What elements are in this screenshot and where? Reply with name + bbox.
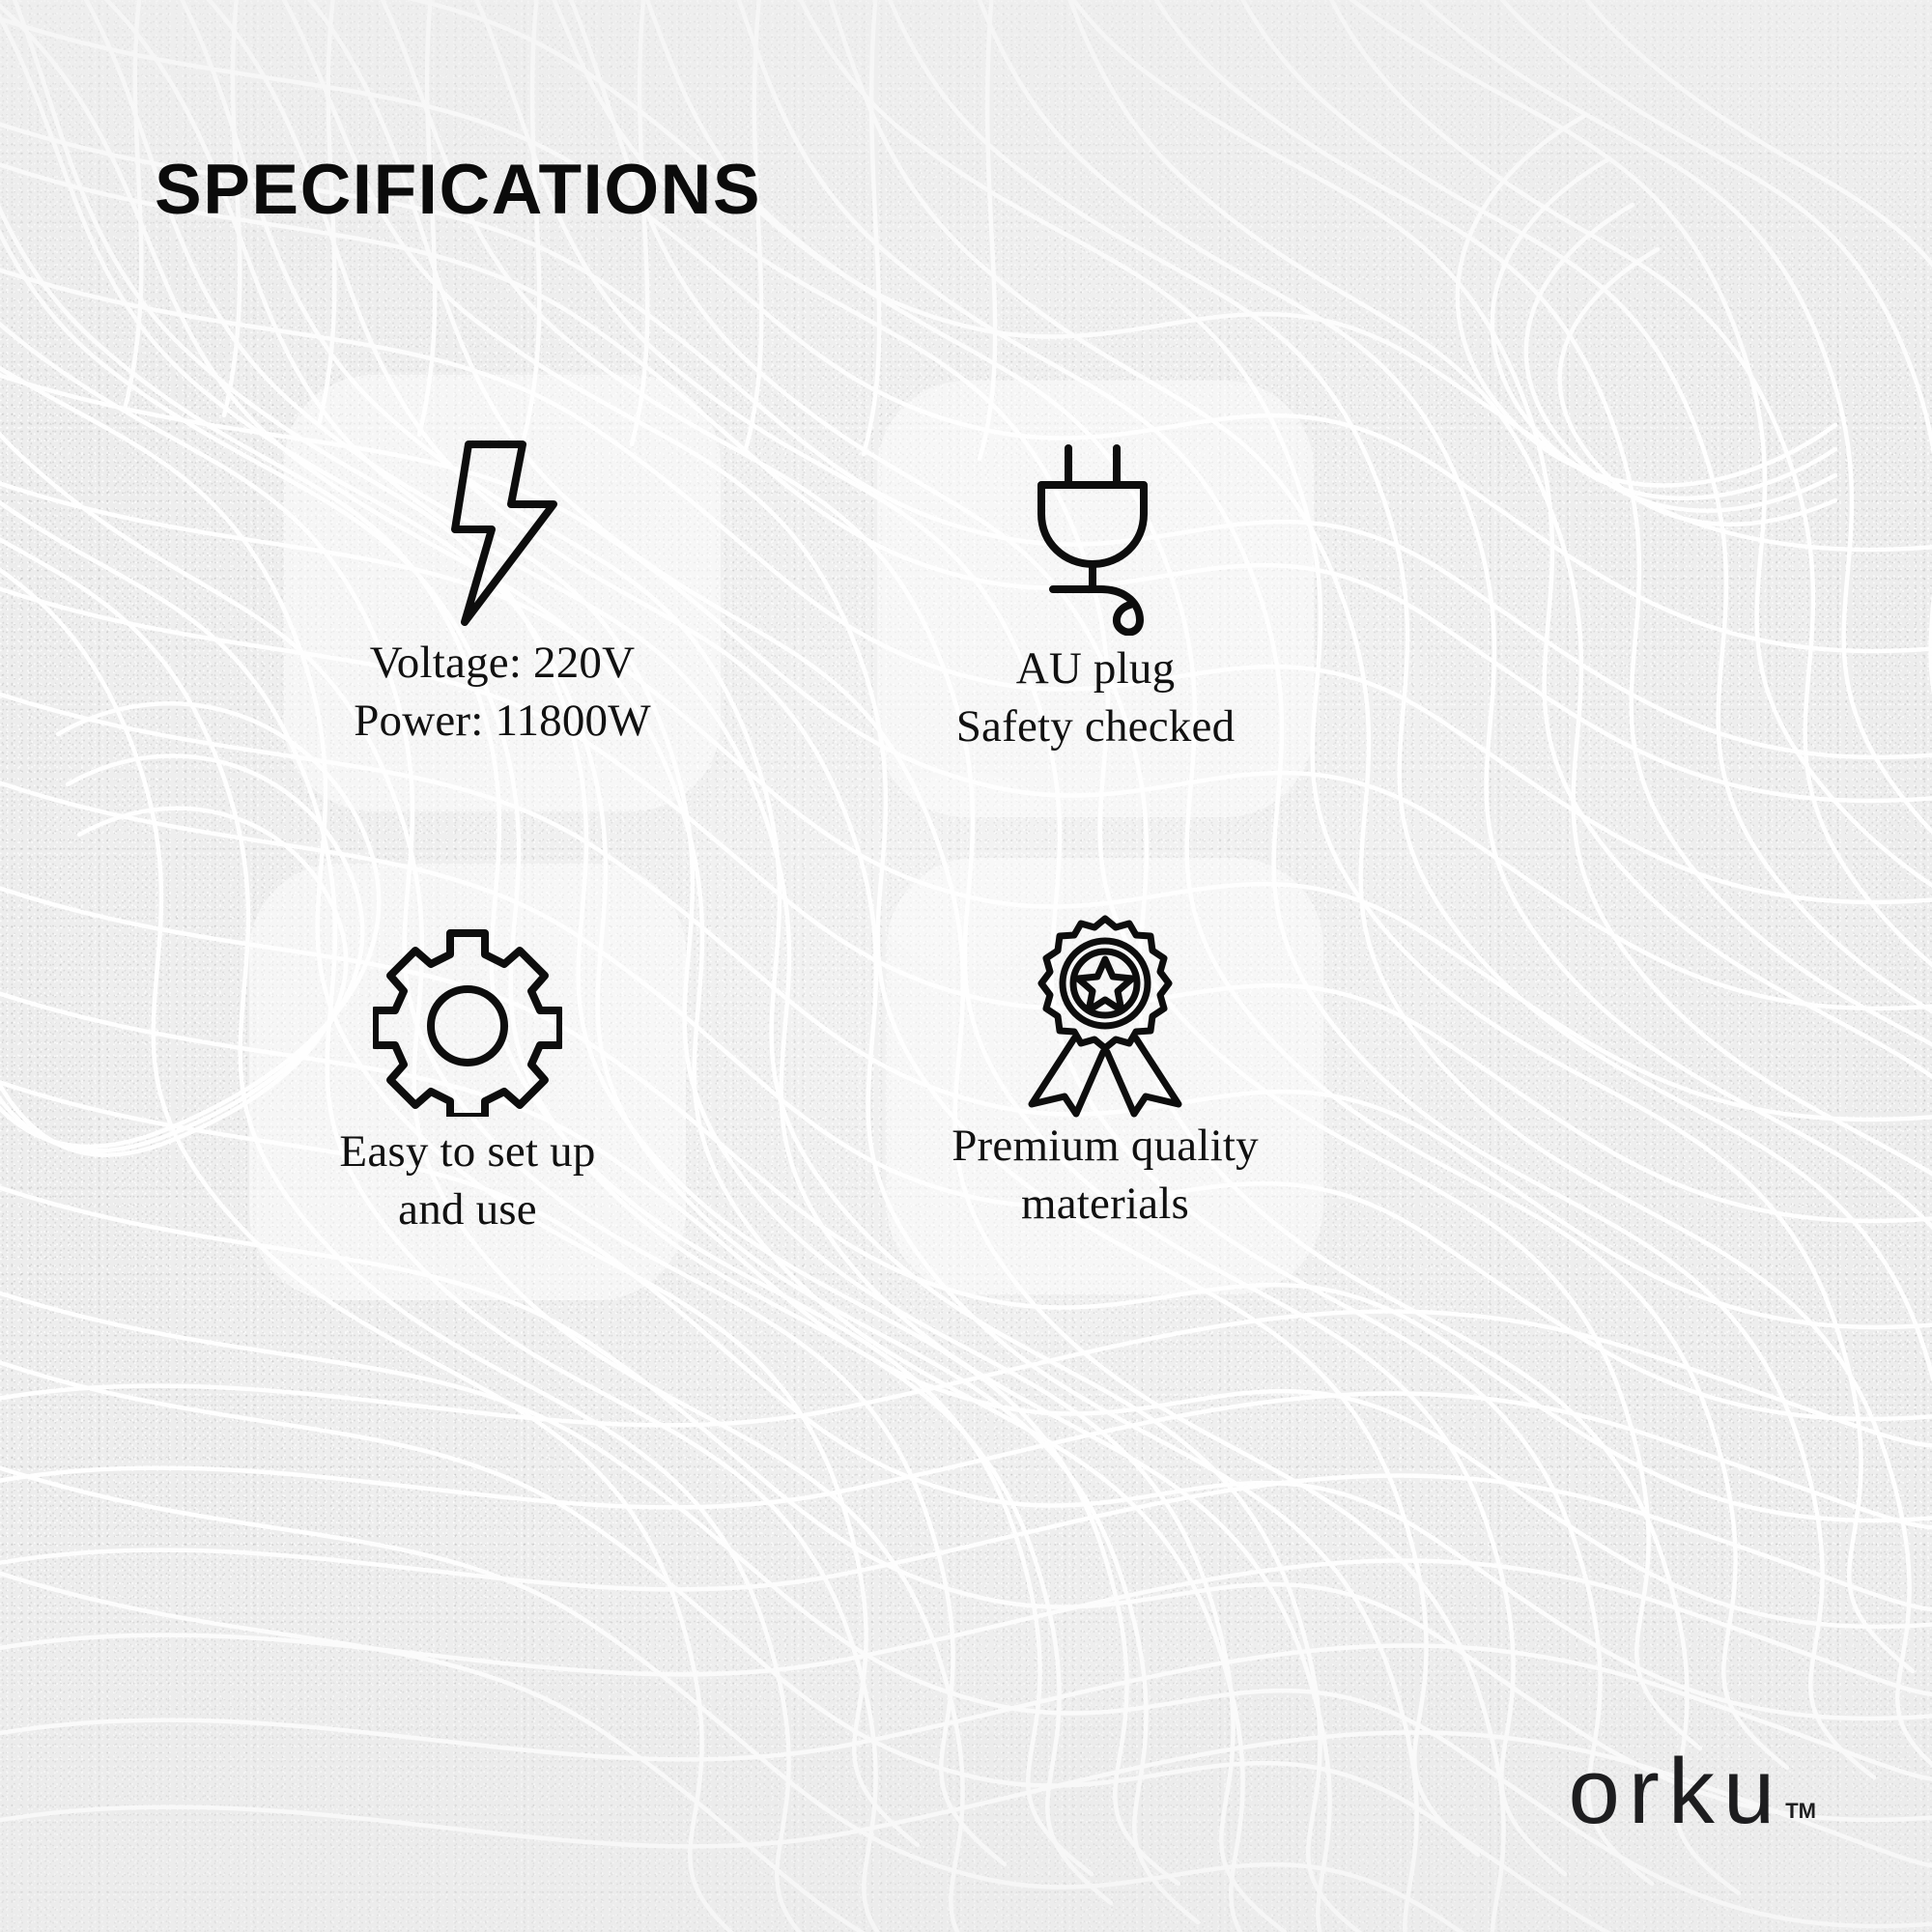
- award-ribbon-star-icon: [1010, 920, 1200, 1113]
- spec-card-label: Voltage: 220V Power: 11800W: [354, 634, 651, 750]
- lightning-bolt-icon: [430, 437, 575, 630]
- spec-card-easy-setup: Easy to set up and use: [249, 864, 686, 1300]
- spec-card-au-plug: AU plug Safety checked: [877, 381, 1314, 817]
- trademark-symbol: TM: [1785, 1799, 1816, 1824]
- power-plug-icon: [1009, 442, 1182, 636]
- gear-icon: [373, 925, 562, 1119]
- spec-card-label: Premium quality materials: [952, 1117, 1259, 1233]
- logo-wordmark: orku: [1568, 1747, 1783, 1835]
- brand-logo: orku TM: [1568, 1747, 1816, 1835]
- spec-card-label: Easy to set up and use: [339, 1122, 595, 1238]
- spec-card-premium-quality: Premium quality materials: [887, 858, 1323, 1294]
- specifications-grid: Voltage: 220V Power: 11800W AU plug Safe…: [249, 375, 1288, 1341]
- page-title: SPECIFICATIONS: [155, 155, 761, 225]
- spec-card-label: AU plug Safety checked: [956, 639, 1236, 755]
- spec-card-voltage-power: Voltage: 220V Power: 11800W: [284, 375, 721, 811]
